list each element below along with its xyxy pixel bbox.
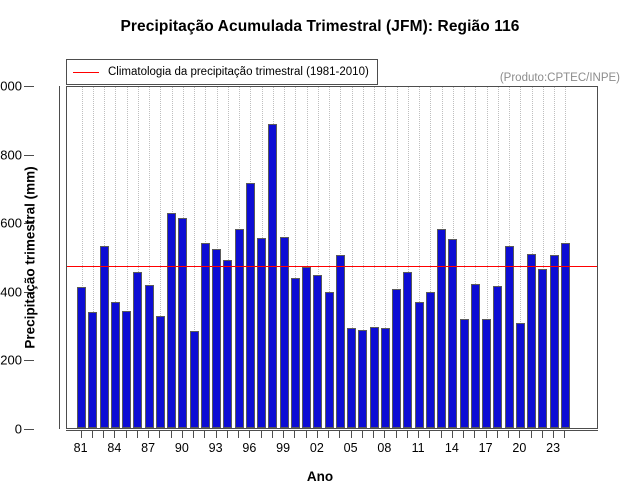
x-tick-mark <box>418 430 419 438</box>
bar <box>550 255 559 428</box>
bar <box>437 229 446 428</box>
x-tick-mark <box>339 430 340 438</box>
x-tick-mark <box>429 430 430 438</box>
bar <box>178 218 187 428</box>
bar <box>88 312 97 428</box>
x-tick-mark <box>463 430 464 438</box>
x-tick-mark <box>227 430 228 438</box>
bar <box>246 183 255 428</box>
bar <box>212 249 221 428</box>
bar <box>235 229 244 428</box>
chart-figure: Precipitação Acumulada Trimestral (JFM):… <box>0 0 640 500</box>
bar <box>415 302 424 428</box>
x-tick-mark <box>159 430 160 438</box>
x-tick-label: 99 <box>276 441 290 455</box>
bar <box>561 243 570 428</box>
bar <box>190 331 199 428</box>
x-tick-label: 05 <box>344 441 358 455</box>
x-tick-mark <box>204 430 205 438</box>
produto-annotation: (Produto:CPTEC/INPE) <box>500 72 620 84</box>
bar <box>145 285 154 428</box>
x-tick-mark <box>553 430 554 438</box>
bar <box>370 327 379 428</box>
x-tick-label: 90 <box>175 441 189 455</box>
bar <box>471 284 480 428</box>
x-tick-mark <box>508 430 509 438</box>
bar <box>167 213 176 428</box>
bar <box>493 286 502 428</box>
legend-item-label: Climatologia da precipitação trimestral … <box>108 66 369 78</box>
y-axis-line <box>59 86 60 429</box>
bar <box>268 124 277 428</box>
bar <box>527 254 536 428</box>
x-tick-label: 08 <box>377 441 391 455</box>
y-tick-label: 800 <box>0 147 22 162</box>
x-tick-mark <box>283 430 284 438</box>
x-tick-label: 93 <box>209 441 223 455</box>
x-tick-mark <box>564 430 565 438</box>
x-tick-mark <box>396 430 397 438</box>
x-tick-mark <box>328 430 329 438</box>
bar <box>538 269 547 429</box>
x-tick-mark <box>306 430 307 438</box>
x-tick-mark <box>193 430 194 438</box>
bar <box>482 319 491 428</box>
bar <box>347 328 356 428</box>
bar <box>313 275 322 428</box>
x-tick-mark <box>384 430 385 438</box>
x-tick-label: 17 <box>479 441 493 455</box>
bar <box>448 239 457 428</box>
x-tick-mark <box>103 430 104 438</box>
y-tick-label: 600 <box>0 216 22 231</box>
bar <box>223 260 232 428</box>
x-tick-mark <box>542 430 543 438</box>
bar <box>201 243 210 428</box>
bar <box>516 323 525 428</box>
legend: Climatologia da precipitação trimestral … <box>66 59 378 85</box>
x-tick-label: 81 <box>74 441 88 455</box>
x-tick-mark <box>407 430 408 438</box>
bar <box>505 246 514 428</box>
bar <box>381 328 390 428</box>
x-tick-mark <box>238 430 239 438</box>
x-tick-mark <box>486 430 487 438</box>
bar <box>358 330 367 428</box>
bar <box>100 246 109 428</box>
x-tick-mark <box>249 430 250 438</box>
x-tick-mark <box>497 430 498 438</box>
x-axis-line <box>66 430 598 431</box>
x-tick-label: 20 <box>512 441 526 455</box>
x-tick-mark <box>452 430 453 438</box>
x-tick-label: 84 <box>107 441 121 455</box>
bar <box>302 267 311 428</box>
bar <box>291 278 300 428</box>
page-title: Precipitação Acumulada Trimestral (JFM):… <box>0 18 640 36</box>
x-tick-mark <box>519 430 520 438</box>
x-tick-mark <box>148 430 149 438</box>
legend-line-swatch <box>73 72 99 73</box>
x-tick-label: 23 <box>546 441 560 455</box>
x-tick-label: 87 <box>141 441 155 455</box>
x-tick-mark <box>261 430 262 438</box>
x-tick-mark <box>182 430 183 438</box>
y-tick-label: 200 <box>0 353 22 368</box>
x-tick-mark <box>171 430 172 438</box>
x-tick-mark <box>474 430 475 438</box>
y-axis-label: Precipitação trimestral (mm) <box>23 88 38 428</box>
plot-area <box>66 86 598 429</box>
x-axis-label: Ano <box>0 469 640 484</box>
bar <box>133 272 142 428</box>
bar <box>460 319 469 428</box>
x-tick-mark <box>373 430 374 438</box>
bar <box>325 292 334 429</box>
x-tick-mark <box>216 430 217 438</box>
x-tick-mark <box>294 430 295 438</box>
x-tick-mark <box>531 430 532 438</box>
x-tick-mark <box>441 430 442 438</box>
bar <box>336 255 345 428</box>
bar <box>392 289 401 428</box>
x-tick-mark <box>351 430 352 438</box>
x-tick-mark <box>126 430 127 438</box>
x-tick-label: 14 <box>445 441 459 455</box>
bar <box>77 287 86 428</box>
x-tick-mark <box>114 430 115 438</box>
x-tick-label: 02 <box>310 441 324 455</box>
y-tick-label: 400 <box>0 284 22 299</box>
climatology-line <box>67 266 597 267</box>
x-axis: Ano 818487909396990205081114172023 <box>0 429 640 500</box>
bar <box>111 302 120 428</box>
bar <box>156 316 165 428</box>
x-tick-mark <box>137 430 138 438</box>
x-tick-label: 96 <box>242 441 256 455</box>
x-tick-mark <box>92 430 93 438</box>
x-tick-label: 11 <box>412 441 425 455</box>
x-tick-mark <box>272 430 273 438</box>
bar <box>122 311 131 428</box>
bar <box>426 292 435 429</box>
x-tick-mark <box>362 430 363 438</box>
x-tick-mark <box>317 430 318 438</box>
bar <box>403 272 412 428</box>
y-tick-label: 1000 <box>0 79 22 94</box>
x-tick-mark <box>81 430 82 438</box>
